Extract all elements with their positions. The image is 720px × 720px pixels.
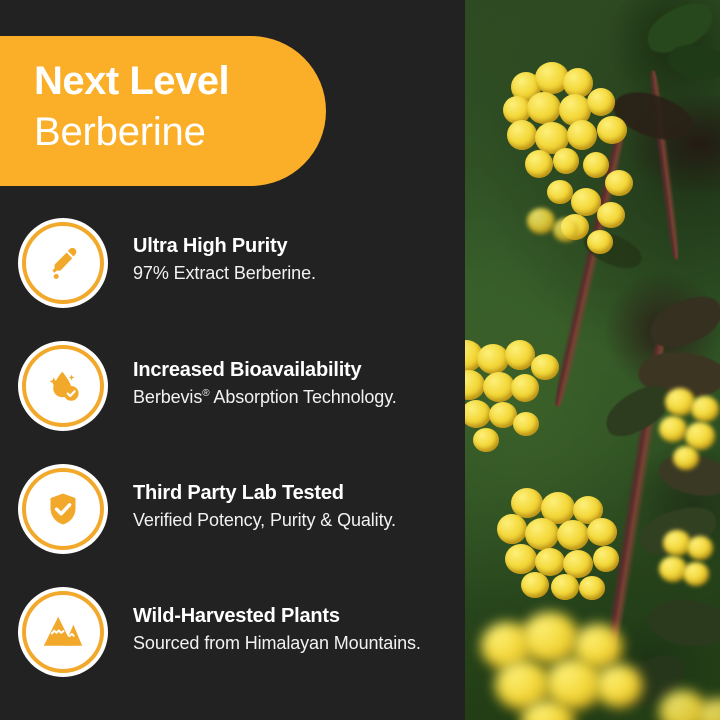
flower-cluster: [659, 388, 720, 478]
flower-cluster: [497, 488, 637, 608]
feature-text: Increased Bioavailability Berbevis® Abso…: [133, 345, 397, 411]
feature-item: Ultra High Purity 97% Extract Berberine.: [0, 222, 465, 345]
feature-subtitle: 97% Extract Berberine.: [133, 259, 316, 287]
icon-badge: [22, 591, 104, 673]
flower-cluster-foreground: [481, 612, 651, 720]
feature-item: Third Party Lab Tested Verified Potency,…: [0, 468, 465, 591]
flower-cluster: [527, 208, 597, 278]
feature-subtitle-brand: Berbevis: [133, 387, 202, 407]
feature-text: Ultra High Purity 97% Extract Berberine.: [133, 222, 316, 287]
feature-text: Wild-Harvested Plants Sourced from Himal…: [133, 591, 421, 657]
feature-text: Third Party Lab Tested Verified Potency,…: [133, 468, 396, 534]
flower-cluster: [659, 530, 720, 610]
mountain-icon: [42, 612, 84, 652]
icon-badge: [22, 222, 104, 304]
icon-badge: [22, 468, 104, 550]
headline-banner: Next Level Berberine: [0, 36, 326, 186]
flower-cluster-foreground: [659, 690, 720, 720]
icon-badge: [22, 345, 104, 427]
shield-check-icon: [43, 489, 83, 529]
droplet-sparkle-check-icon: [42, 365, 84, 407]
feature-subtitle: Berbevis® Absorption Technology.: [133, 383, 397, 411]
feature-item: Wild-Harvested Plants Sourced from Himal…: [0, 591, 465, 714]
dropper-icon: [43, 243, 83, 283]
product-feature-poster: Next Level Berberine Ultra High Pur: [0, 0, 720, 720]
feature-subtitle: Sourced from Himalayan Mountains.: [133, 629, 421, 657]
feature-title: Third Party Lab Tested: [133, 480, 396, 506]
feature-subtitle-rest: Absorption Technology.: [210, 387, 397, 407]
feature-title: Increased Bioavailability: [133, 357, 397, 383]
feature-list: Ultra High Purity 97% Extract Berberine.: [0, 222, 465, 714]
feature-title: Ultra High Purity: [133, 233, 316, 259]
headline-secondary: Berberine: [34, 106, 326, 158]
registered-trademark-mark: ®: [202, 388, 209, 399]
berberine-plant-photo: [463, 0, 720, 720]
headline-primary: Next Level: [34, 56, 326, 106]
feature-subtitle: Verified Potency, Purity & Quality.: [133, 506, 396, 534]
flower-cluster: [463, 340, 579, 470]
feature-title: Wild-Harvested Plants: [133, 603, 421, 629]
feature-item: Increased Bioavailability Berbevis® Abso…: [0, 345, 465, 468]
